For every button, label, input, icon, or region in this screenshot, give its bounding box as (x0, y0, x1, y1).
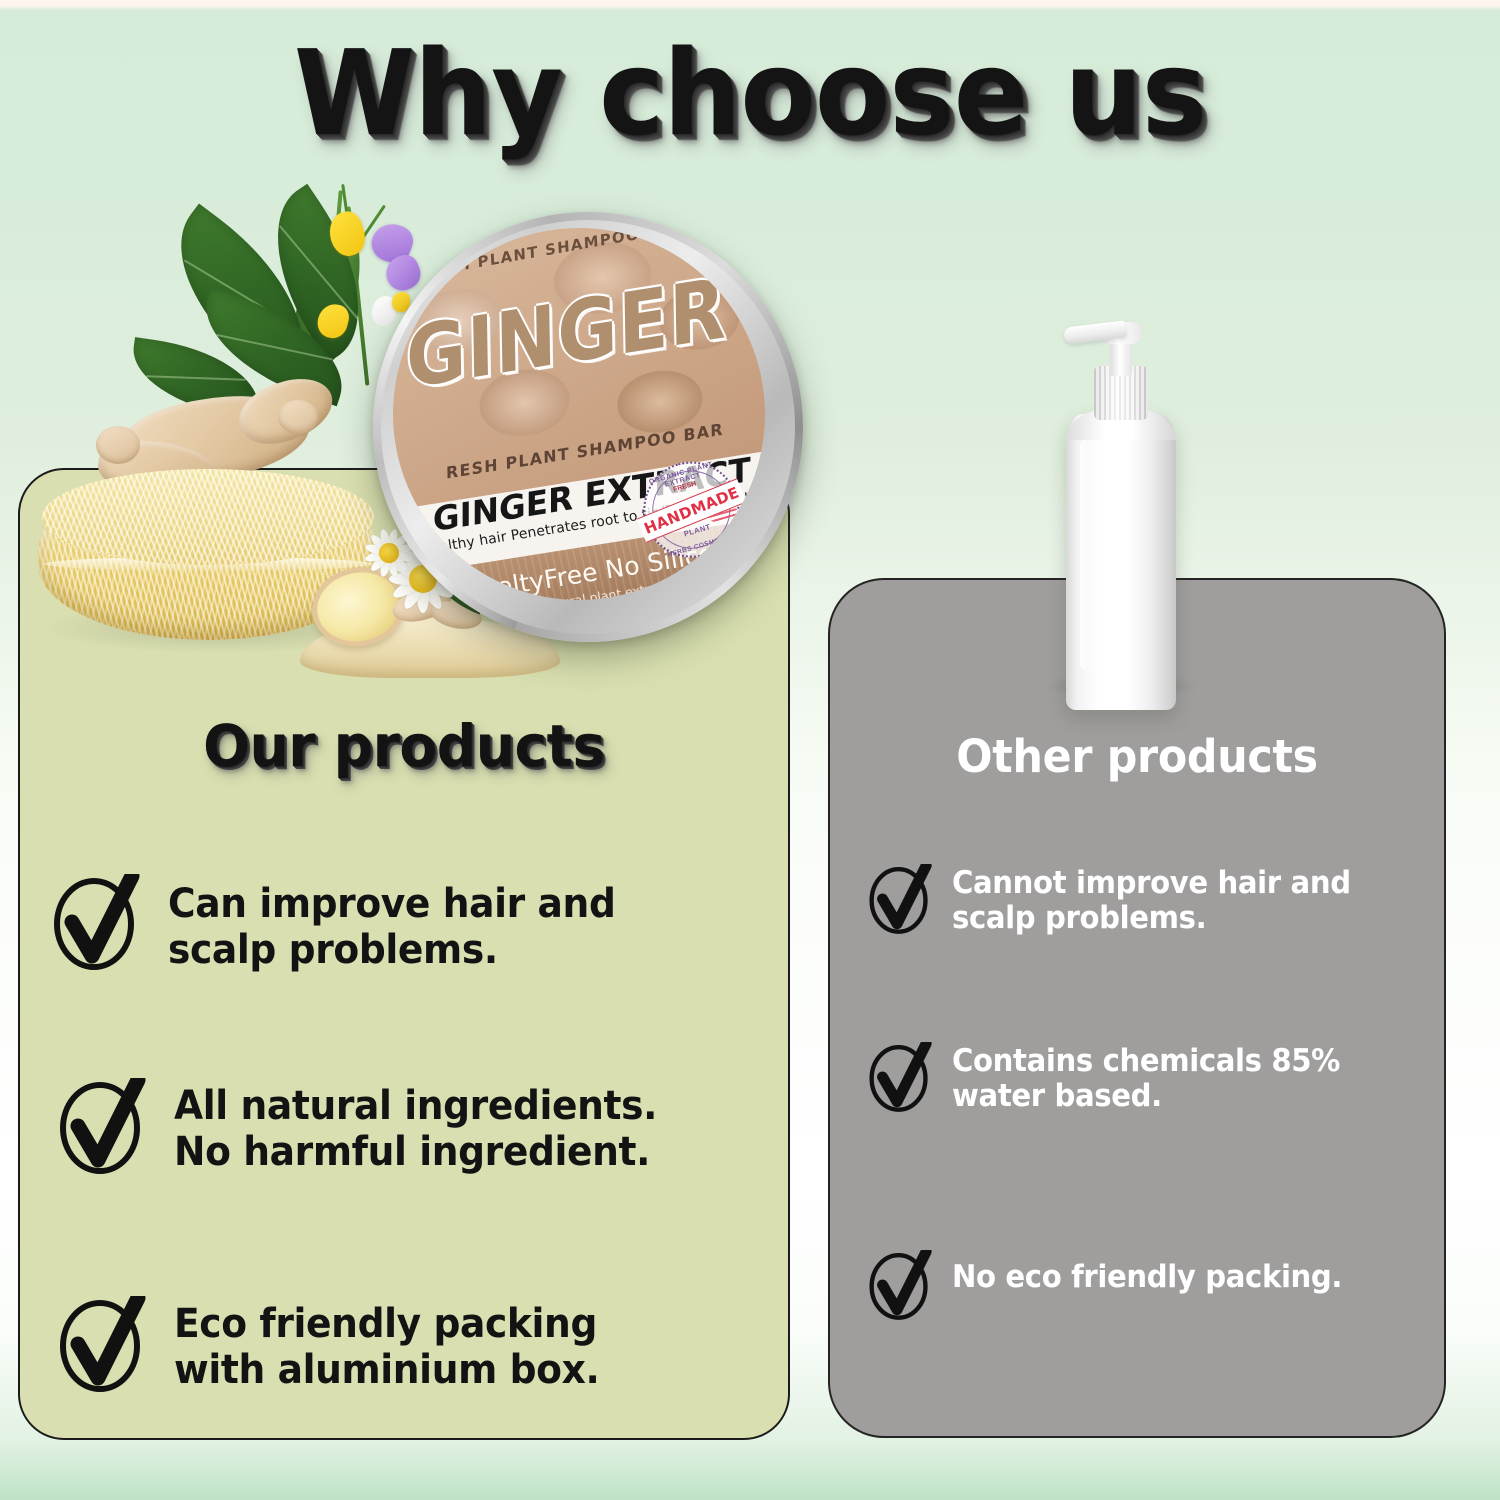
list-item: Can improve hair and scalp problems. (52, 872, 644, 975)
check-circle-icon (52, 874, 140, 975)
check-circle-icon (58, 1078, 146, 1179)
check-circle-icon (868, 864, 932, 939)
bottle-highlight (1080, 440, 1092, 670)
check-circle-icon (868, 1042, 932, 1117)
ginger-root-knob (96, 426, 140, 464)
ginger-root-knob (278, 400, 318, 434)
our-products-heading: Our products (37, 712, 770, 780)
tin-label: RESH PLANT SHAMPOO BAR GINGER RESH PLANT… (366, 201, 792, 627)
soap-bar-top (42, 469, 374, 565)
check-circle-icon (868, 1250, 932, 1325)
list-item: No eco friendly packing. (868, 1248, 1367, 1325)
list-item: Contains chemicals 85% water based. (868, 1040, 1365, 1117)
ginger-shampoo-tin-image: RESH PLANT SHAMPOO BAR GINGER RESH PLANT… (373, 212, 803, 642)
list-item-label: No eco friendly packing. (952, 1260, 1342, 1295)
list-item-label: Cannot improve hair and scalp problems. (952, 866, 1351, 937)
list-item-label: Can improve hair and scalp problems. (168, 882, 615, 973)
list-item-label: All natural ingredients. No harmful ingr… (174, 1084, 657, 1175)
list-item: All natural ingredients. No harmful ingr… (58, 1076, 688, 1179)
pump-bottle-image (1058, 310, 1184, 710)
list-item-label: Eco friendly packing with aluminium box. (174, 1302, 599, 1393)
page-title: Why choose us (53, 34, 1448, 152)
list-item-label: Contains chemicals 85% water based. (952, 1044, 1340, 1115)
list-item: Cannot improve hair and scalp problems. (868, 862, 1376, 939)
product-photo-composite: RESH PLANT SHAMPOO BAR GINGER RESH PLANT… (0, 150, 860, 690)
other-products-heading: Other products (843, 730, 1430, 783)
list-item: Eco friendly packing with aluminium box. (58, 1294, 627, 1397)
infographic-canvas: Why choose us (0, 0, 1500, 1500)
check-circle-icon (58, 1296, 146, 1397)
